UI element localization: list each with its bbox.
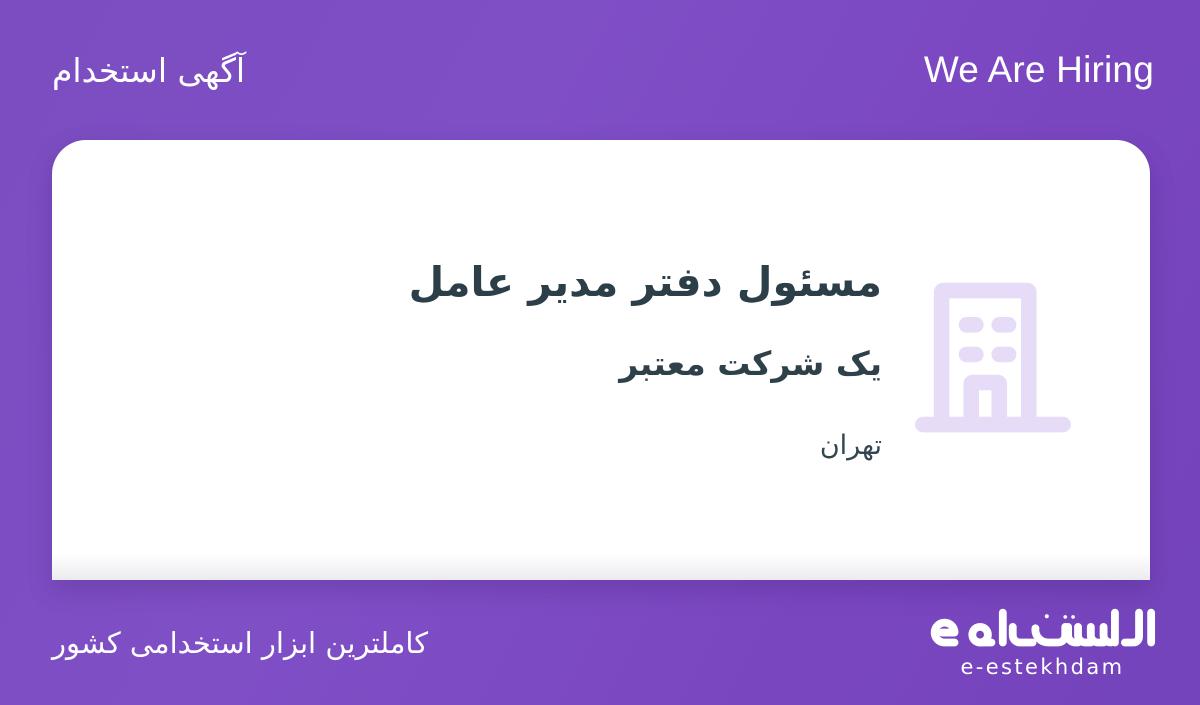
header-english-title: We Are Hiring	[924, 49, 1154, 91]
job-ad-poster: We Are Hiring آگهی استخدام مسئول دفتر مد…	[0, 0, 1200, 705]
company-name: یک شرکت معتبر	[92, 343, 882, 386]
poster-footer: e-estekhdam کاملترین ابزار استخدامی کشور	[0, 580, 1200, 705]
job-details: مسئول دفتر مدیر عامل یک شرکت معتبر تهران	[92, 257, 888, 462]
job-title: مسئول دفتر مدیر عامل	[92, 257, 882, 308]
estekhdam-wordmark-icon	[929, 607, 1156, 651]
poster-header: We Are Hiring آگهی استخدام	[0, 0, 1200, 140]
company-logo-area	[888, 275, 1098, 445]
job-location: تهران	[92, 428, 882, 463]
footer-tagline: کاملترین ابزار استخدامی کشور	[52, 626, 428, 660]
building-icon	[914, 275, 1072, 437]
header-persian-title: آگهی استخدام	[52, 51, 245, 90]
job-card: مسئول دفتر مدیر عامل یک شرکت معتبر تهران	[52, 140, 1150, 580]
brand-latin-name: e-estekhdam	[960, 655, 1124, 679]
brand-logo: e-estekhdam	[929, 607, 1156, 679]
